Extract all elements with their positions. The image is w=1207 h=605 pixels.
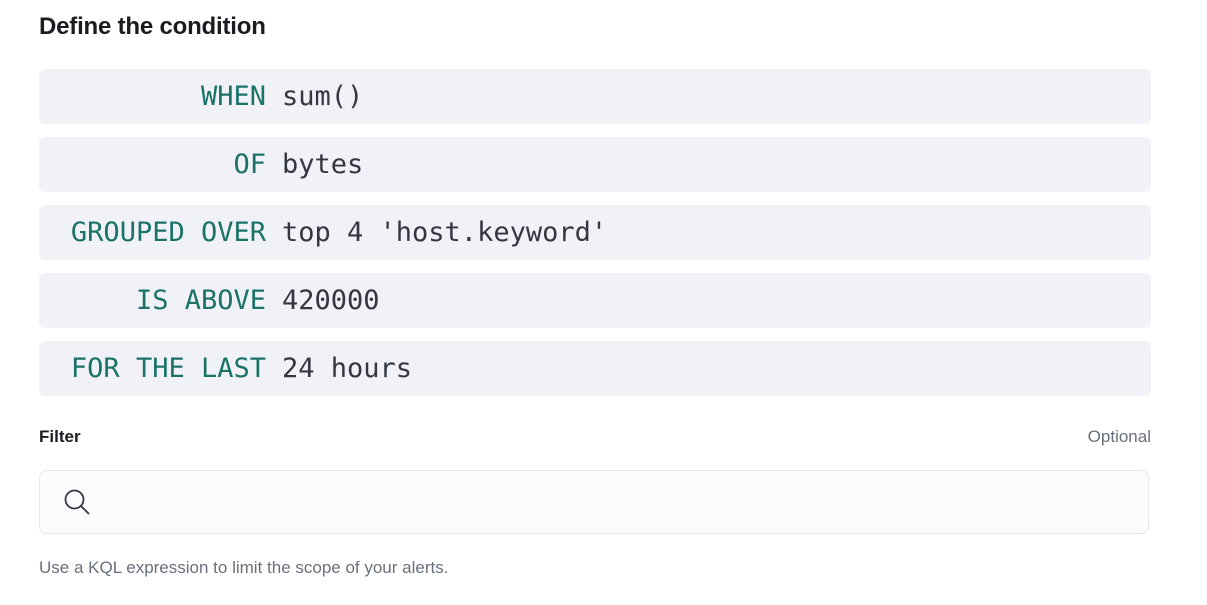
condition-value-aggregation[interactable]: sum() (282, 69, 363, 124)
condition-row-grouped-over[interactable]: GROUPED OVER top 4 'host.keyword' (39, 205, 1151, 260)
condition-keyword-for-the-last: FOR THE LAST (39, 341, 266, 396)
filter-label-row: Filter Optional (39, 427, 1151, 447)
search-icon (62, 487, 92, 517)
condition-value-time-window[interactable]: 24 hours (282, 341, 412, 396)
define-condition-panel: Define the condition WHEN sum() OF bytes… (0, 0, 1207, 605)
condition-keyword-of: OF (39, 137, 266, 192)
condition-keyword-is-above: IS ABOVE (39, 273, 266, 328)
filter-optional-label: Optional (1088, 427, 1151, 447)
filter-input-container[interactable] (39, 470, 1149, 534)
condition-keyword-when: WHEN (39, 69, 266, 124)
condition-expression-builder: WHEN sum() OF bytes GROUPED OVER top 4 '… (39, 69, 1151, 396)
condition-row-when[interactable]: WHEN sum() (39, 69, 1151, 124)
condition-row-for-the-last[interactable]: FOR THE LAST 24 hours (39, 341, 1151, 396)
condition-row-is-above[interactable]: IS ABOVE 420000 (39, 273, 1151, 328)
condition-value-group-by[interactable]: top 4 'host.keyword' (282, 205, 607, 260)
filter-input[interactable] (92, 471, 1148, 533)
condition-value-threshold[interactable]: 420000 (282, 273, 380, 328)
filter-label: Filter (39, 427, 81, 447)
condition-keyword-grouped-over: GROUPED OVER (39, 205, 266, 260)
condition-row-of[interactable]: OF bytes (39, 137, 1151, 192)
filter-help-text: Use a KQL expression to limit the scope … (39, 556, 448, 580)
page-title: Define the condition (39, 10, 266, 44)
condition-value-field[interactable]: bytes (282, 137, 363, 192)
